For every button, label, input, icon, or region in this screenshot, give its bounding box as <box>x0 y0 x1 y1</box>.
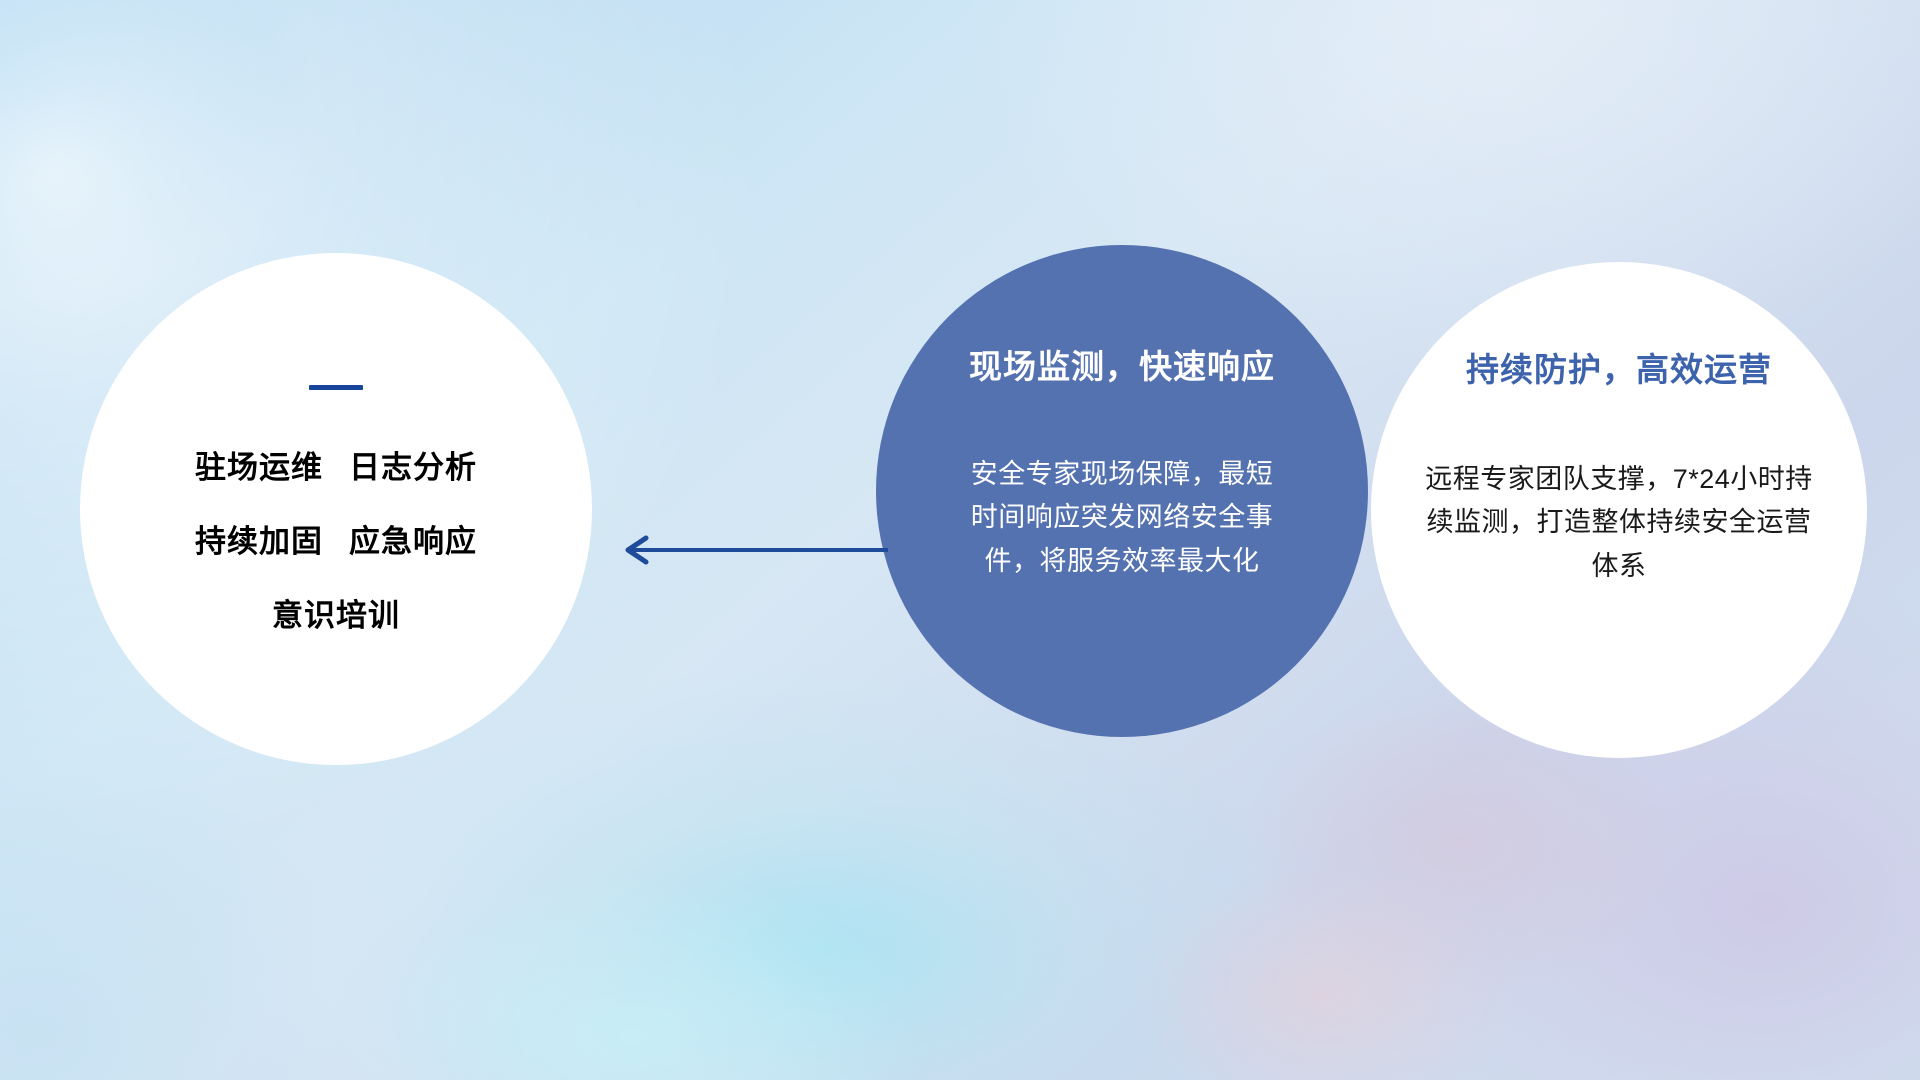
onsite-monitoring-body: 安全专家现场保障，最短时间响应突发网络安全事件，将服务效率最大化 <box>967 453 1277 584</box>
continuous-protection-body: 远程专家团队支撑，7*24小时持续监测，打造整体持续安全运营体系 <box>1413 458 1825 589</box>
service-capabilities-content: 驻场运维日志分析 持续加固应急响应 意识培训 <box>80 253 592 765</box>
capability-label: 日志分析 <box>349 450 477 485</box>
slide-canvas: 驻场运维日志分析 持续加固应急响应 意识培训 现场监测，快速响应 安全专家现场保… <box>0 0 1920 1080</box>
capability-row-1: 驻场运维日志分析 <box>195 452 477 483</box>
onsite-monitoring-title: 现场监测，快速响应 <box>969 347 1275 387</box>
capability-label: 意识培训 <box>272 598 400 633</box>
capability-label: 应急响应 <box>349 524 477 559</box>
continuous-protection-title: 持续防护，高效运营 <box>1466 350 1772 390</box>
blue-divider-dash <box>309 385 363 390</box>
capability-row-2: 持续加固应急响应 <box>195 526 477 557</box>
capability-label: 驻场运维 <box>195 450 323 485</box>
capability-row-3: 意识培训 <box>272 600 400 631</box>
onsite-monitoring-content: 现场监测，快速响应 安全专家现场保障，最短时间响应突发网络安全事件，将服务效率最… <box>876 245 1368 737</box>
flow-arrow-left <box>610 520 890 580</box>
continuous-protection-content: 持续防护，高效运营 远程专家团队支撑，7*24小时持续监测，打造整体持续安全运营… <box>1371 262 1867 758</box>
capability-label: 持续加固 <box>195 524 323 559</box>
